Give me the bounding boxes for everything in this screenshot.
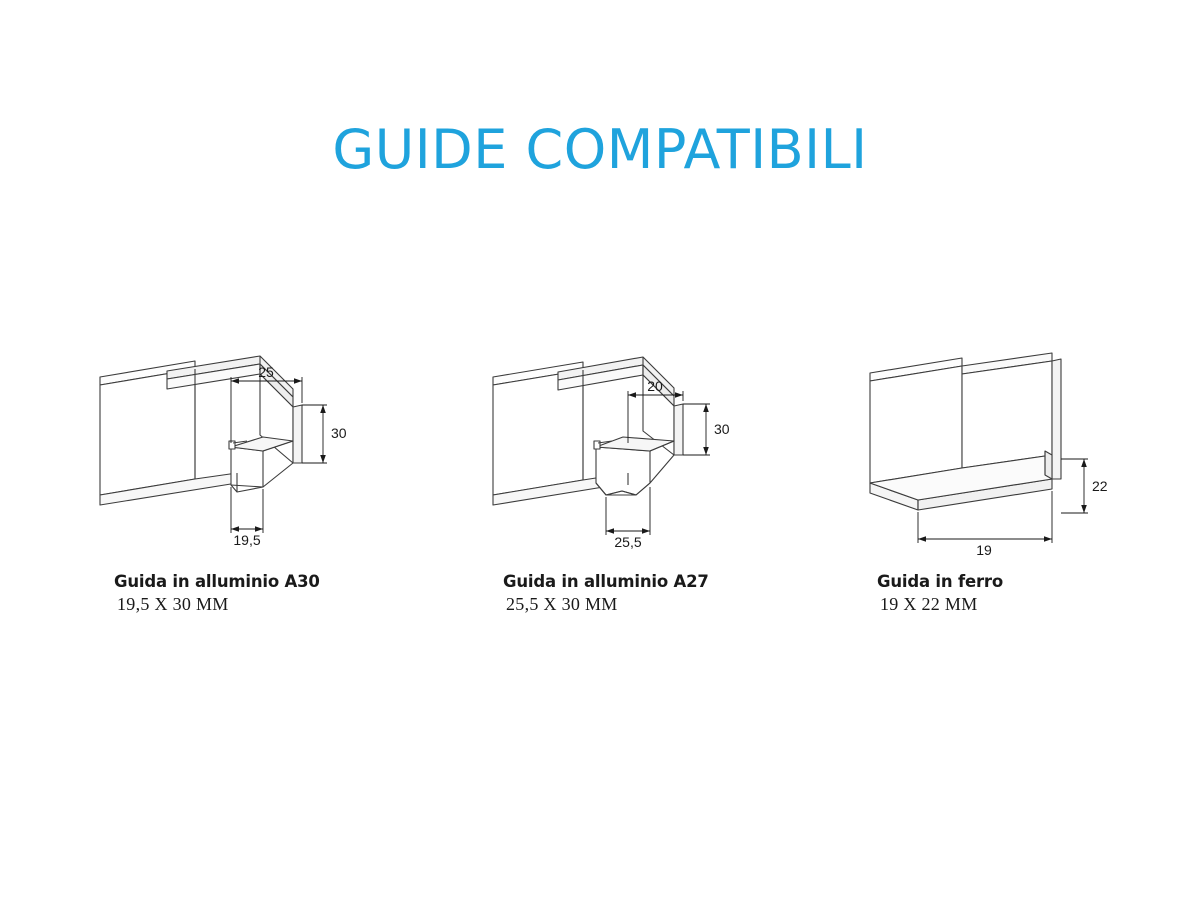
caption-guida-ferro: Guida in ferro 19 X 22 MM <box>877 572 1003 615</box>
dim-bottom-label: 19,5 <box>233 532 260 548</box>
caption-guida-alluminio-a27: Guida in alluminio A27 25,5 X 30 MM <box>503 572 709 615</box>
dim-right-label: 30 <box>714 421 730 437</box>
caption-guida-alluminio-a30: Guida in alluminio A30 19,5 X 30 MM <box>114 572 320 615</box>
drawing-guida-alluminio-a30: 25 30 19,5 <box>95 355 355 555</box>
caption-name: Guida in alluminio A30 <box>114 572 320 591</box>
caption-size: 19,5 X 30 MM <box>114 594 320 615</box>
dim-top-label: 20 <box>647 378 663 394</box>
drawing-guida-ferro: 22 19 <box>862 355 1102 555</box>
figure-guida-alluminio-a30: 25 30 19,5 <box>95 355 355 555</box>
drawing-guida-alluminio-a27: 20 30 25,5 <box>488 355 738 555</box>
dim-top-label: 25 <box>258 364 274 380</box>
slide-canvas: GUIDE COMPATIBILI <box>0 0 1200 900</box>
caption-name: Guida in alluminio A27 <box>503 572 709 591</box>
dim-bottom-label: 25,5 <box>614 534 641 550</box>
caption-size: 19 X 22 MM <box>877 594 1003 615</box>
dim-right-label: 22 <box>1092 478 1108 494</box>
figure-guida-ferro: 22 19 <box>862 355 1102 555</box>
page-title: GUIDE COMPATIBILI <box>0 118 1200 181</box>
caption-size: 25,5 X 30 MM <box>503 594 709 615</box>
dim-bottom-label: 19 <box>976 542 992 558</box>
dim-right-label: 30 <box>331 425 347 441</box>
caption-name: Guida in ferro <box>877 572 1003 591</box>
figure-guida-alluminio-a27: 20 30 25,5 <box>488 355 738 555</box>
